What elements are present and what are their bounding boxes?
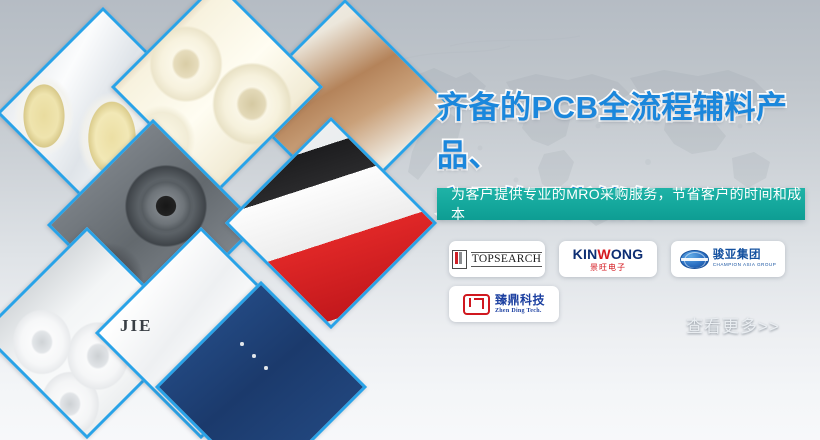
- topsearch-mark-icon: [452, 250, 467, 269]
- topsearch-wordmark: TOPSEARCH: [471, 252, 543, 267]
- zhen-ding-mark-icon: [463, 294, 490, 315]
- kinwong-text-accent: W: [597, 246, 610, 262]
- kinwong-text-1: KIN: [573, 246, 598, 262]
- kinwong-text-2: ONG: [611, 246, 644, 262]
- globe-icon: [680, 250, 709, 269]
- champion-english-name: CHAMPION ASIA GROUP: [713, 263, 777, 268]
- zhen-ding-chinese-name: 臻鼎科技: [495, 294, 545, 306]
- view-more-link[interactable]: 查看更多>>: [686, 312, 780, 337]
- product-collage: [0, 0, 400, 440]
- kinwong-wordmark: KINWONG: [573, 246, 644, 262]
- promo-banner: 齐备的PCB全流程辅料产品、 充足的现货储备 为客户提供专业的MRO采购服务，节…: [0, 0, 820, 440]
- partner-logo-champion-asia[interactable]: 骏亚集团 CHAMPION ASIA GROUP: [671, 241, 785, 277]
- champion-chinese-name: 骏亚集团: [713, 250, 777, 262]
- banner-subtitle-bar: 为客户提供专业的MRO采购服务，节省客户的时间和成本: [437, 188, 805, 220]
- banner-subtitle-text: 为客户提供专业的MRO采购服务，节省客户的时间和成本: [437, 184, 805, 224]
- zhen-ding-english-name: Zhen Ding Tech.: [495, 308, 545, 314]
- partner-logo-zhen-ding[interactable]: 臻鼎科技 Zhen Ding Tech.: [449, 286, 559, 322]
- partner-logo-topsearch[interactable]: TOPSEARCH: [449, 241, 545, 277]
- partner-logo-kinwong[interactable]: KINWONG 景旺电子: [559, 241, 657, 277]
- kinwong-chinese-name: 景旺电子: [573, 264, 644, 272]
- partner-logo-row-1: TOPSEARCH KINWONG 景旺电子 骏亚集团 CHAMPION ASI…: [449, 241, 809, 277]
